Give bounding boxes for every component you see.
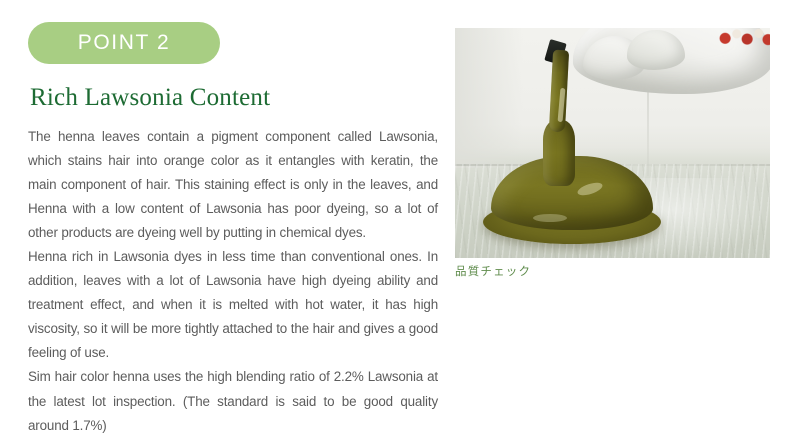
section-title: Rich Lawsonia Content xyxy=(30,84,440,112)
backdrop-panel xyxy=(455,28,523,168)
point-badge: POINT 2 xyxy=(28,22,220,64)
body-paragraph-3: Sim hair color henna uses the high blend… xyxy=(28,365,438,437)
body-paragraph-2: Henna rich in Lawsonia dyes in less time… xyxy=(28,245,438,365)
point-section-page: POINT 2 Rich Lawsonia Content The henna … xyxy=(0,0,800,440)
text-column: POINT 2 Rich Lawsonia Content The henna … xyxy=(28,22,440,438)
beaded-bracelet xyxy=(717,28,770,50)
photo-column: 品質チェック xyxy=(455,28,770,280)
quality-check-photo xyxy=(455,28,770,258)
photo-caption: 品質チェック xyxy=(455,265,770,280)
henna-highlight-pool xyxy=(533,214,567,222)
body-text-block: The henna leaves contain a pigment compo… xyxy=(28,125,438,438)
body-paragraph-1: The henna leaves contain a pigment compo… xyxy=(28,125,438,245)
